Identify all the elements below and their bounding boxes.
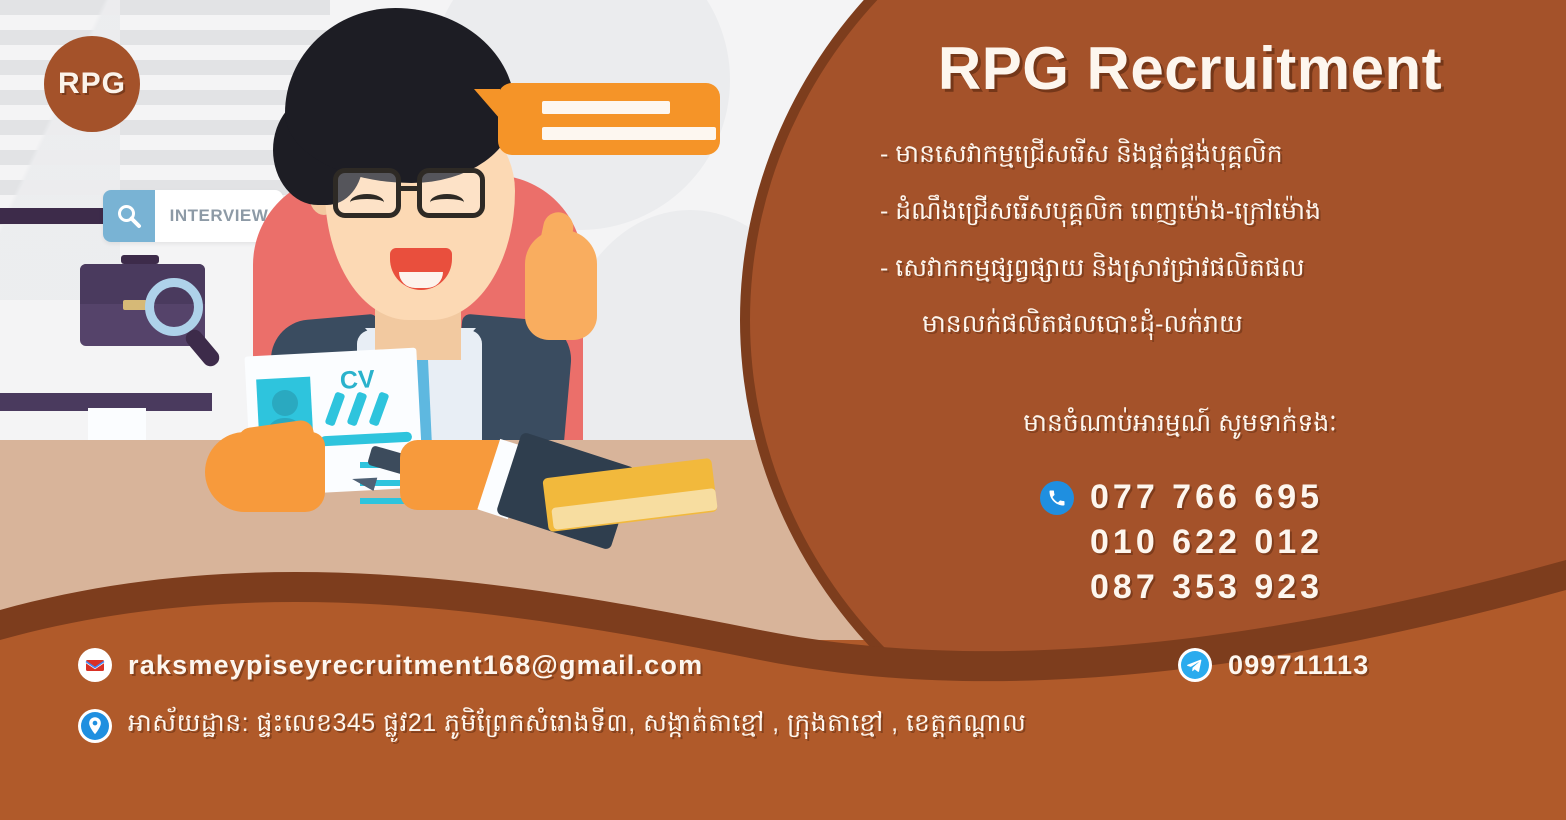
phone-number: 077 766 695 <box>1090 478 1323 517</box>
gmail-icon <box>78 648 112 682</box>
address-row: អាស័យដ្ឋាន: ផ្ទះលេខ345 ផ្លូវ21 ភូមិព្រែក… <box>78 708 1026 744</box>
email-row[interactable]: raksmeypiseyrecruitment168@gmail.com <box>78 648 703 682</box>
phone-row[interactable]: 010 622 012 <box>1040 523 1323 562</box>
spacer <box>1040 526 1074 560</box>
page-title: RPG Recruitment <box>880 34 1500 103</box>
contact-intro-text: មានចំណាប់អារម្មណ៍ សូមទាក់ទងៈ <box>880 408 1480 444</box>
list-item-sub: មានលក់ផលិតផលបោះដុំ-លក់រាយ <box>922 310 1480 339</box>
phone-row[interactable]: 077 766 695 <box>1040 478 1323 517</box>
list-item: - ដំណឹងជ្រើសរើសបុគ្គលិក ពេញម៉ោង-ក្រៅម៉ោង <box>880 197 1480 226</box>
spacer <box>1040 571 1074 605</box>
list-item: - សេវាកកម្មផ្សព្វផ្សាយ និងស្រាវជ្រាវផលិត… <box>880 254 1480 283</box>
phone-list: 077 766 695 010 622 012 087 353 923 <box>1040 478 1323 613</box>
telegram-icon <box>1178 648 1212 682</box>
phone-number: 010 622 012 <box>1090 523 1323 562</box>
telegram-row[interactable]: 099711113 <box>1178 648 1369 682</box>
location-pin-icon <box>78 709 112 743</box>
address-text: អាស័យដ្ឋាន: ផ្ទះលេខ345 ផ្លូវ21 ភូមិព្រែក… <box>128 708 1026 744</box>
telegram-number: 099711113 <box>1228 650 1369 681</box>
services-list: - មានសេវាកម្មជ្រើសរើស និងផ្គត់ផ្គង់បុគ្គ… <box>880 140 1480 367</box>
recruitment-banner: RPG INTERVIEW <box>0 0 1566 820</box>
list-item: - មានសេវាកម្មជ្រើសរើស និងផ្គត់ផ្គង់បុគ្គ… <box>880 140 1480 169</box>
content-layer: RPG Recruitment - មានសេវាកម្មជ្រើសរើស និ… <box>0 0 1566 820</box>
phone-icon <box>1040 481 1074 515</box>
phone-row[interactable]: 087 353 923 <box>1040 568 1323 607</box>
email-address: raksmeypiseyrecruitment168@gmail.com <box>128 650 703 681</box>
phone-number: 087 353 923 <box>1090 568 1323 607</box>
